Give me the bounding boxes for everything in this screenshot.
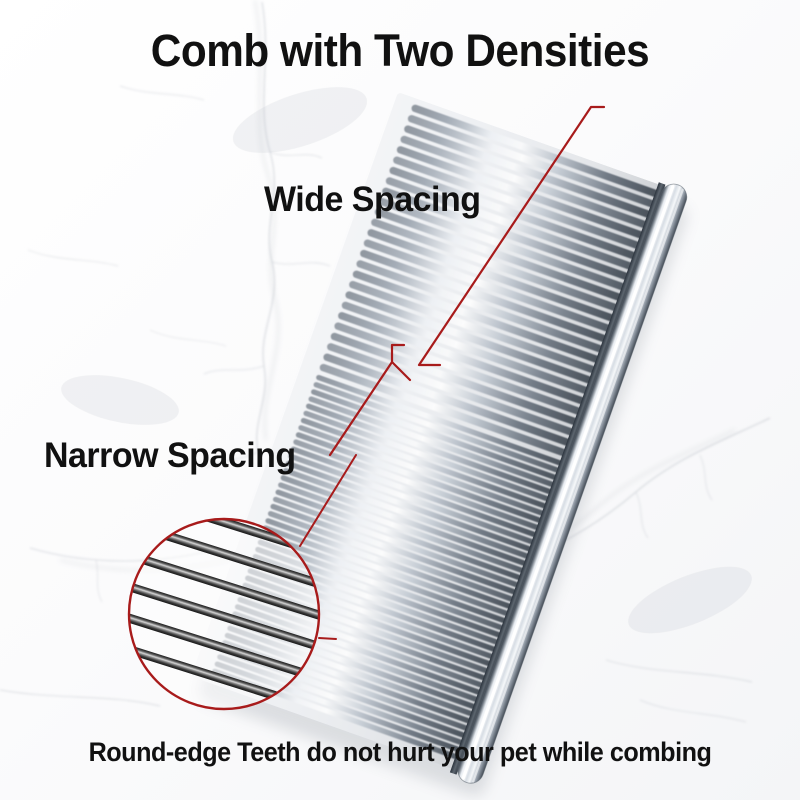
narrow-spacing-label: Narrow Spacing: [44, 436, 296, 476]
infographic-canvas: Comb with Two Densities Wide Spacing Nar…: [0, 0, 800, 800]
page-title: Comb with Two Densities: [24, 28, 776, 73]
bottom-caption: Round-edge Teeth do not hurt your pet wh…: [20, 737, 780, 768]
comb-product-image: [0, 0, 800, 800]
wide-spacing-label: Wide Spacing: [264, 180, 480, 220]
